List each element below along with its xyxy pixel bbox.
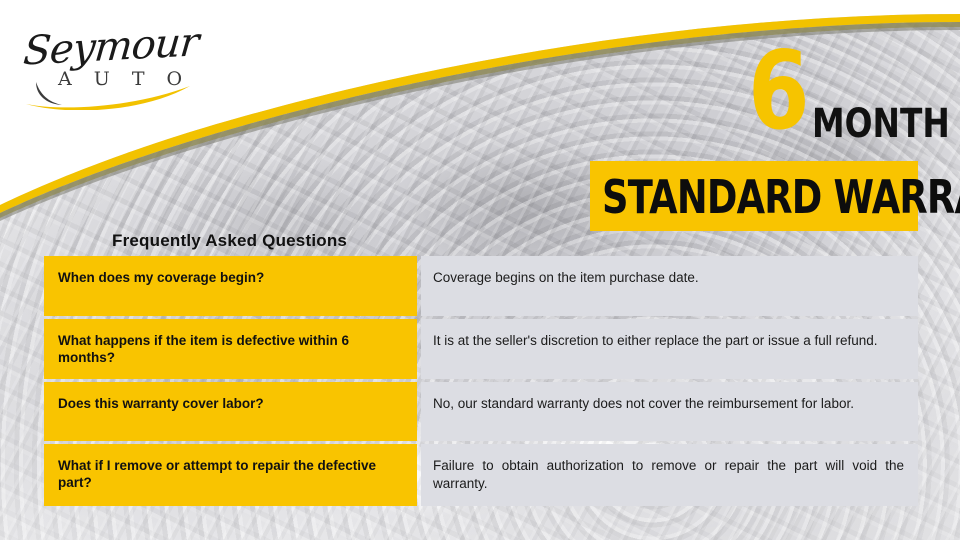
faq-question: Does this warranty cover labor? xyxy=(44,382,417,441)
faq-question: What happens if the item is defective wi… xyxy=(44,319,417,379)
table-row: Does this warranty cover labor? No, our … xyxy=(44,382,918,441)
table-row: When does my coverage begin? Coverage be… xyxy=(44,256,918,316)
warranty-duration-number: 6 xyxy=(748,38,808,146)
standard-warranty-banner: STANDARD WARRANTY xyxy=(590,161,918,231)
faq-answer: Failure to obtain authorization to remov… xyxy=(421,444,918,506)
faq-heading: Frequently Asked Questions xyxy=(112,231,347,251)
warranty-slide: Seymour A U T O 6 MONTH STANDARD WARRANT… xyxy=(0,0,960,540)
table-row: What happens if the item is defective wi… xyxy=(44,319,918,379)
table-row: What if I remove or attempt to repair th… xyxy=(44,444,918,506)
faq-answer: It is at the seller's discretion to eith… xyxy=(421,319,918,379)
warranty-duration-unit: MONTH xyxy=(812,104,950,144)
faq-answer: Coverage begins on the item purchase dat… xyxy=(421,256,918,316)
standard-warranty-label: STANDARD WARRANTY xyxy=(602,175,960,219)
faq-answer: No, our standard warranty does not cover… xyxy=(421,382,918,441)
brand-swoosh-icon xyxy=(18,78,198,110)
faq-table: When does my coverage begin? Coverage be… xyxy=(44,256,918,509)
brand-script-name: Seymour xyxy=(21,19,200,74)
faq-question: When does my coverage begin? xyxy=(44,256,417,316)
brand-logo: Seymour A U T O xyxy=(18,16,198,108)
faq-question: What if I remove or attempt to repair th… xyxy=(44,444,417,506)
